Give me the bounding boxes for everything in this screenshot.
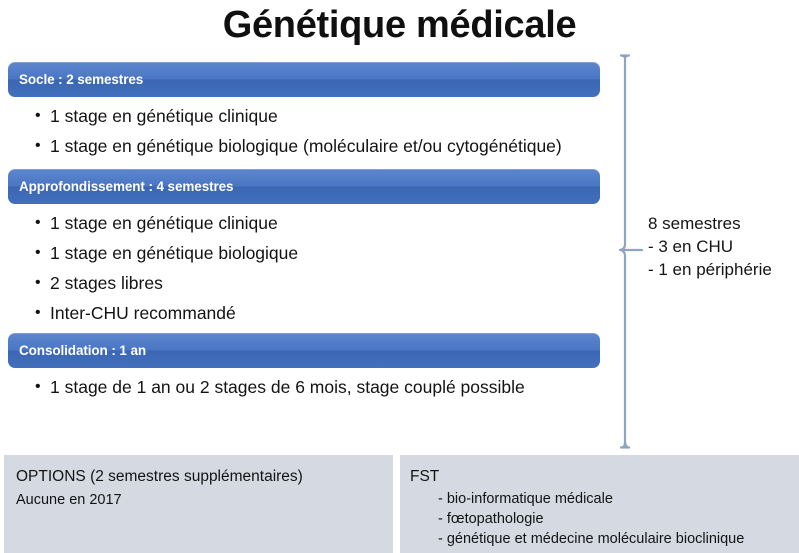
section-header-socle: Socle : 2 semestres	[8, 62, 600, 97]
section-header-consolidation: Consolidation : 1 an	[8, 333, 600, 368]
bullet-list-approfondissement: 1 stage en génétique clinique 1 stage en…	[8, 210, 600, 327]
list-item: 1 stage en génétique biologique	[8, 240, 600, 267]
options-heading: OPTIONS (2 semestres supplémentaires)	[16, 465, 393, 489]
list-item: - bio-informatique médicale	[438, 489, 799, 509]
list-item: 1 stage de 1 an ou 2 stages de 6 mois, s…	[8, 374, 600, 401]
section-header-consolidation-label: Consolidation : 1 an	[19, 343, 146, 358]
curly-brace-icon	[604, 54, 644, 450]
list-item: 1 stage en génétique clinique	[8, 103, 600, 130]
curriculum-content: Socle : 2 semestres 1 stage en génétique…	[8, 62, 600, 404]
section-header-approfondissement: Approfondissement : 4 semestres	[8, 169, 600, 204]
list-item: 1 stage en génétique biologique (molécul…	[8, 133, 600, 160]
list-item: 1 stage en génétique clinique	[8, 210, 600, 237]
section-header-approfondissement-label: Approfondissement : 4 semestres	[19, 179, 233, 194]
fst-panel: FST - bio-informatique médicale - fœtopa…	[400, 455, 799, 553]
options-line: Aucune en 2017	[16, 489, 393, 512]
list-item: - fœtopathologie	[438, 509, 799, 529]
bottom-panels: OPTIONS (2 semestres supplémentaires) Au…	[0, 455, 799, 553]
brace-annotation-sub: - 1 en périphérie	[648, 258, 798, 281]
list-item: Inter-CHU recommandé	[8, 300, 600, 327]
brace-annotation-main: 8 semestres	[648, 212, 798, 235]
fst-heading: FST	[410, 465, 799, 489]
brace-annotation: 8 semestres - 3 en CHU - 1 en périphérie	[648, 212, 798, 281]
list-item: 2 stages libres	[8, 270, 600, 297]
options-panel: OPTIONS (2 semestres supplémentaires) Au…	[4, 455, 393, 553]
right-brace	[604, 54, 644, 450]
bullet-list-consolidation: 1 stage de 1 an ou 2 stages de 6 mois, s…	[8, 374, 600, 401]
page-title: Génétique médicale	[0, 2, 799, 48]
brace-annotation-sub: - 3 en CHU	[648, 235, 798, 258]
list-item: - génétique et médecine moléculaire bioc…	[438, 529, 799, 549]
section-header-socle-label: Socle : 2 semestres	[19, 72, 143, 87]
fst-list: - bio-informatique médicale - fœtopathol…	[410, 489, 799, 549]
bullet-list-socle: 1 stage en génétique clinique 1 stage en…	[8, 103, 600, 160]
